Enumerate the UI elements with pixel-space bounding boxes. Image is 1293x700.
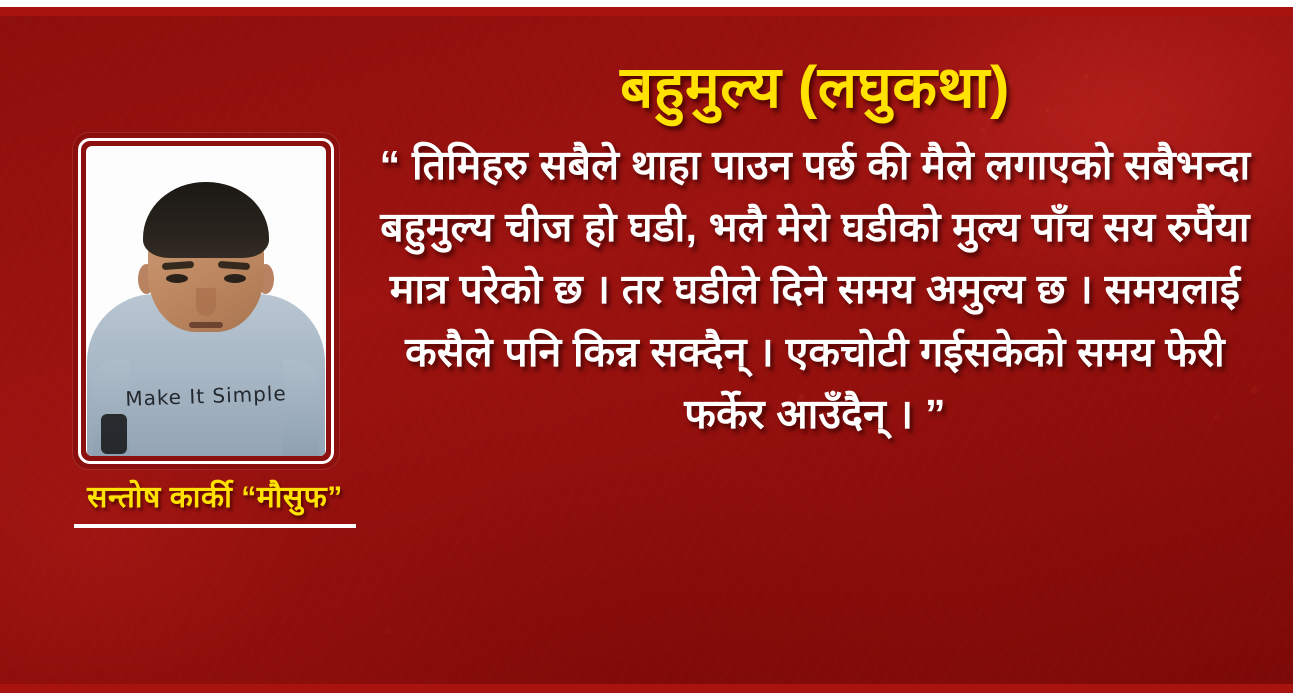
story-line: बहुमुल्य चीज हो घडी, भलै मेरो घडीको मुल्… bbox=[360, 196, 1270, 258]
portrait-eye-right bbox=[224, 274, 246, 283]
portrait-hair bbox=[143, 182, 269, 258]
top-accent-band bbox=[0, 7, 1293, 16]
story-title: बहुमुल्य (लघुकथा) bbox=[360, 56, 1270, 120]
portrait-shoulder-right bbox=[283, 360, 319, 456]
author-portrait-photo: Make It Simple bbox=[86, 146, 326, 456]
portrait-eye-left bbox=[166, 274, 188, 283]
author-photo-frame-inner: Make It Simple bbox=[78, 138, 334, 464]
red-background: Make It Simple सन्तोष क bbox=[0, 16, 1293, 684]
portrait-mouth bbox=[189, 322, 223, 328]
portrait-nose bbox=[196, 288, 216, 316]
bottom-white-edge bbox=[0, 693, 1293, 700]
story-line: कसैले पनि किन्न सक्दैन् । एकचोटी गईसकेको… bbox=[360, 321, 1270, 383]
poster-canvas: Make It Simple सन्तोष क bbox=[0, 0, 1293, 700]
story-line: “ तिमिहरु सबैले थाहा पाउन पर्छ की मैले ल… bbox=[360, 134, 1270, 196]
author-column: Make It Simple सन्तोष क bbox=[73, 133, 357, 528]
author-underline-rule bbox=[74, 524, 356, 528]
bottom-accent-band bbox=[0, 684, 1293, 693]
story-line: मात्र परेको छ । तर घडीले दिने समय अमुल्य… bbox=[360, 258, 1270, 320]
top-white-edge bbox=[0, 0, 1293, 7]
story-line: फर्केर आउँदैन् । ” bbox=[360, 383, 1270, 445]
portrait-arm-shadow bbox=[101, 414, 127, 454]
story-body: “ तिमिहरु सबैले थाहा पाउन पर्छ की मैले ल… bbox=[360, 134, 1270, 446]
portrait-shirt-text: Make It Simple bbox=[125, 381, 287, 411]
author-photo-frame: Make It Simple bbox=[73, 133, 339, 469]
author-name: सन्तोष कार्की “मौसुफ” bbox=[73, 481, 357, 516]
story-column: बहुमुल्य (लघुकथा) “ तिमिहरु सबैले थाहा प… bbox=[360, 56, 1270, 445]
